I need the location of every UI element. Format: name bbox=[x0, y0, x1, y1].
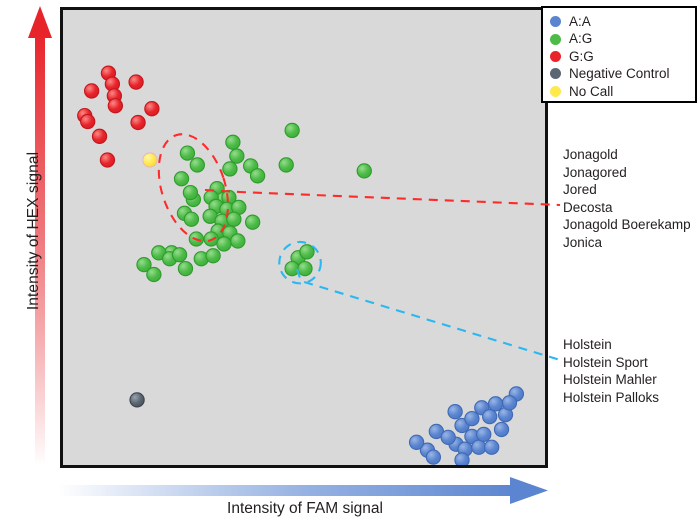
data-point[interactable] bbox=[81, 114, 95, 128]
data-point[interactable] bbox=[227, 212, 241, 226]
legend-label: A:A bbox=[569, 15, 591, 29]
legend-label: A:G bbox=[569, 32, 592, 46]
data-point[interactable] bbox=[130, 393, 144, 407]
legend-label: No Call bbox=[569, 85, 613, 99]
series-a-g bbox=[137, 123, 371, 281]
circle-marker-icon bbox=[550, 16, 561, 27]
data-point[interactable] bbox=[129, 75, 143, 89]
data-point[interactable] bbox=[285, 261, 299, 275]
legend-item-no-call[interactable]: No Call bbox=[550, 83, 695, 100]
data-point[interactable] bbox=[502, 396, 516, 410]
circle-marker-icon bbox=[550, 86, 561, 97]
data-point[interactable] bbox=[145, 102, 159, 116]
legend-label: G:G bbox=[569, 50, 594, 64]
data-point[interactable] bbox=[465, 412, 479, 426]
y-axis-label: Intensity of HEX signal bbox=[25, 111, 43, 351]
data-point[interactable] bbox=[300, 245, 314, 259]
data-point[interactable] bbox=[426, 450, 440, 464]
data-point[interactable] bbox=[489, 397, 503, 411]
data-point[interactable] bbox=[85, 84, 99, 98]
list-item: Jonica bbox=[563, 234, 691, 252]
data-point[interactable] bbox=[494, 422, 508, 436]
list-item: Holstein Sport bbox=[563, 354, 659, 372]
data-point[interactable] bbox=[231, 234, 245, 248]
data-point[interactable] bbox=[455, 453, 469, 465]
list-item: Jonagold Boerekamp bbox=[563, 216, 691, 234]
data-point[interactable] bbox=[279, 158, 293, 172]
data-point[interactable] bbox=[92, 129, 106, 143]
blue-cluster-annotation-list: Holstein Holstein Sport Holstein Mahler … bbox=[563, 336, 659, 406]
series-negative-control bbox=[130, 393, 144, 407]
data-point[interactable] bbox=[184, 212, 198, 226]
data-point[interactable] bbox=[147, 267, 161, 281]
x-axis-label: Intensity of FAM signal bbox=[120, 500, 490, 518]
data-point[interactable] bbox=[357, 164, 371, 178]
data-point[interactable] bbox=[172, 248, 186, 262]
data-point[interactable] bbox=[483, 410, 497, 424]
data-point[interactable] bbox=[285, 123, 299, 137]
data-point[interactable] bbox=[441, 430, 455, 444]
list-item: Holstein Mahler bbox=[563, 371, 659, 389]
data-point[interactable] bbox=[448, 405, 462, 419]
legend-box: A:A A:G G:G Negative Control No Call bbox=[541, 6, 697, 103]
scatter-plot-area[interactable] bbox=[60, 7, 548, 468]
data-point[interactable] bbox=[143, 153, 157, 167]
circle-marker-icon bbox=[550, 51, 561, 62]
green-cluster-annotation-list: Jonagold Jonagored Jored Decosta Jonagol… bbox=[563, 146, 691, 252]
data-point[interactable] bbox=[206, 249, 220, 263]
data-point[interactable] bbox=[217, 237, 231, 251]
series-g-g bbox=[78, 66, 159, 167]
data-point[interactable] bbox=[472, 440, 486, 454]
data-point[interactable] bbox=[246, 215, 260, 229]
data-point[interactable] bbox=[250, 169, 264, 183]
data-point[interactable] bbox=[100, 153, 114, 167]
list-item: Jored bbox=[563, 181, 691, 199]
data-points-layer bbox=[78, 66, 524, 465]
data-point[interactable] bbox=[230, 149, 244, 163]
data-point[interactable] bbox=[108, 99, 122, 113]
data-point[interactable] bbox=[180, 146, 194, 160]
data-point[interactable] bbox=[174, 172, 188, 186]
series-a-a bbox=[409, 387, 523, 465]
legend-item-ag[interactable]: A:G bbox=[550, 30, 695, 47]
data-point[interactable] bbox=[477, 427, 491, 441]
series-no-call bbox=[143, 153, 157, 167]
data-point[interactable] bbox=[298, 261, 312, 275]
data-point[interactable] bbox=[183, 185, 197, 199]
list-item: Holstein bbox=[563, 336, 659, 354]
data-point[interactable] bbox=[485, 440, 499, 454]
list-item: Holstein Palloks bbox=[563, 389, 659, 407]
data-point[interactable] bbox=[131, 115, 145, 129]
list-item: Jonagored bbox=[563, 164, 691, 182]
legend-item-negative-control[interactable]: Negative Control bbox=[550, 65, 695, 82]
data-point[interactable] bbox=[223, 162, 237, 176]
circle-marker-icon bbox=[550, 68, 561, 79]
data-point[interactable] bbox=[178, 261, 192, 275]
legend-item-gg[interactable]: G:G bbox=[550, 48, 695, 65]
list-item: Decosta bbox=[563, 199, 691, 217]
legend-label: Negative Control bbox=[569, 67, 670, 81]
data-point[interactable] bbox=[409, 435, 423, 449]
scatter-points-svg bbox=[63, 10, 545, 465]
circle-marker-icon bbox=[550, 34, 561, 45]
data-point[interactable] bbox=[226, 135, 240, 149]
legend-item-aa[interactable]: A:A bbox=[550, 13, 695, 30]
data-point[interactable] bbox=[190, 158, 204, 172]
list-item: Jonagold bbox=[563, 146, 691, 164]
